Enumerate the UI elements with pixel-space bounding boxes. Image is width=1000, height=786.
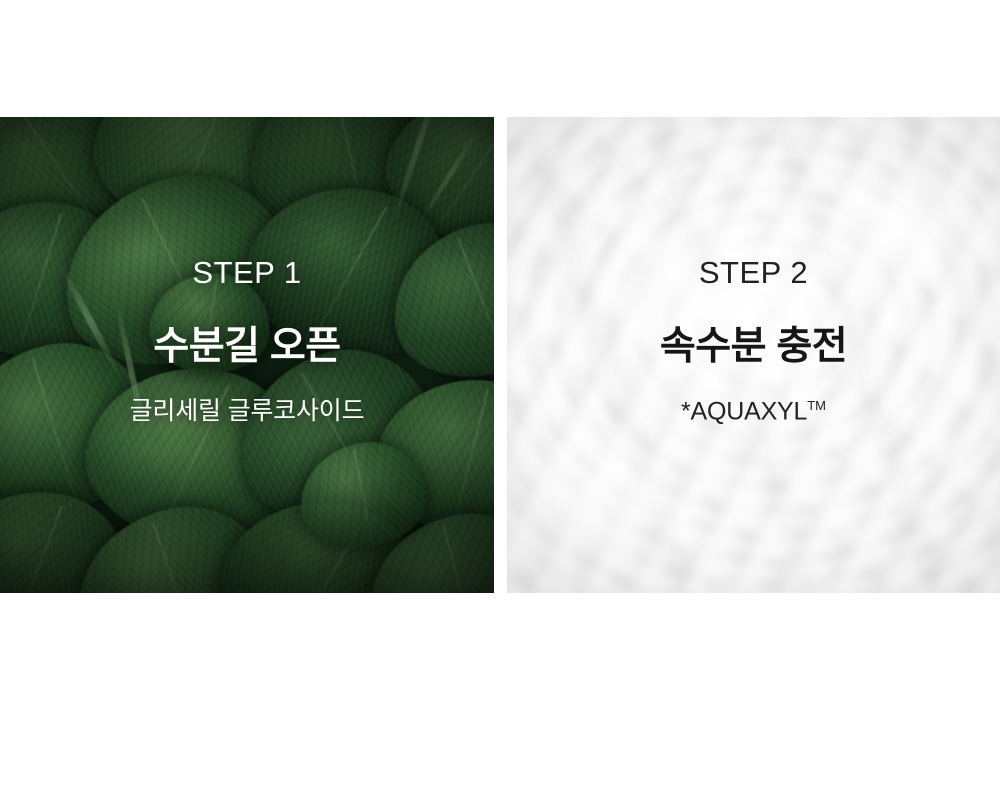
step-2-label: STEP 2 [507,257,1000,288]
step-2-panel: STEP 2 속수분 충전 *AQUAXYLTM [507,117,1000,593]
step-1-label: STEP 1 [0,257,494,288]
step-1-headline: 수분길 오픈 [0,288,494,366]
step-1-subline: 글리세릴 글루코사이드 [0,366,494,424]
step-2-subline: *AQUAXYLTM [507,366,1000,424]
step-2-subline-main: *AQUAXYL [681,397,807,425]
step-2-headline: 속수분 충전 [507,288,1000,366]
trademark-symbol: TM [807,398,826,413]
step-2-caption: STEP 2 속수분 충전 *AQUAXYLTM [507,257,1000,424]
step-1-panel: STEP 1 수분길 오픈 글리세릴 글루코사이드 [0,117,494,593]
steps-banner-page: STEP 1 수분길 오픈 글리세릴 글루코사이드 STEP 2 속수분 충전 … [0,0,1000,786]
step-1-caption: STEP 1 수분길 오픈 글리세릴 글루코사이드 [0,257,494,424]
